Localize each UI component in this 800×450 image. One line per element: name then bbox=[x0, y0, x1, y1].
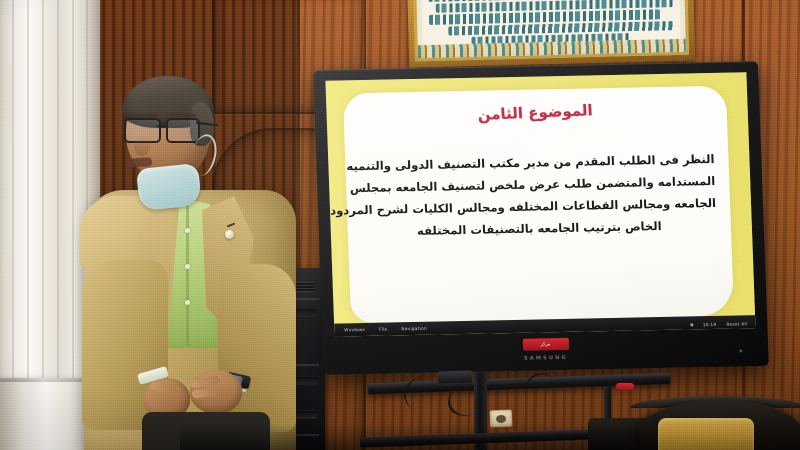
status-dot-icon bbox=[690, 323, 693, 326]
taskbar-reset-button[interactable]: Reset All bbox=[726, 321, 747, 326]
lens-right bbox=[166, 118, 200, 143]
display-center-badge: مركز bbox=[522, 338, 568, 351]
taskbar-item-windows[interactable]: Windows bbox=[344, 327, 365, 332]
display-screen[interactable]: الموضوع الثامن النظر فى الطلب المقدم من … bbox=[325, 72, 755, 336]
glasses-bridge bbox=[157, 125, 167, 127]
slide-title: الموضوع الثامن bbox=[343, 96, 727, 130]
taskbar-status-area: 10:19 Reset All bbox=[688, 321, 748, 327]
taskbar-item-file[interactable]: File bbox=[379, 327, 387, 332]
presentation-slide: الموضوع الثامن النظر فى الطلب المقدم من … bbox=[325, 72, 755, 336]
taskbar-item-navigation[interactable]: Navigation bbox=[401, 326, 427, 332]
shirt-placket bbox=[186, 206, 189, 346]
photo-scene: الموضوع الثامن النظر فى الطلب المقدم من … bbox=[0, 0, 800, 450]
speaker-person bbox=[86, 78, 292, 450]
red-cable-clip bbox=[616, 383, 634, 390]
framed-calligraphy-artwork bbox=[407, 0, 695, 67]
slide-body-text: النظر فى الطلب المقدم من مدير مكتب التصن… bbox=[359, 148, 717, 243]
wall-mounted-display[interactable]: الموضوع الثامن النظر فى الطلب المقدم من … bbox=[313, 61, 769, 375]
foreground-shadow bbox=[180, 424, 640, 450]
lapel-pin bbox=[225, 230, 234, 239]
calligraphy-text-block bbox=[421, 0, 680, 45]
table-gold-base bbox=[658, 418, 754, 450]
slide-white-card: الموضوع الثامن النظر فى الطلب المقدم من … bbox=[343, 86, 734, 324]
mouth bbox=[126, 157, 153, 168]
taskbar-clock: 10:19 bbox=[703, 322, 717, 327]
display-power-led-icon bbox=[739, 349, 742, 352]
nose bbox=[134, 136, 150, 156]
